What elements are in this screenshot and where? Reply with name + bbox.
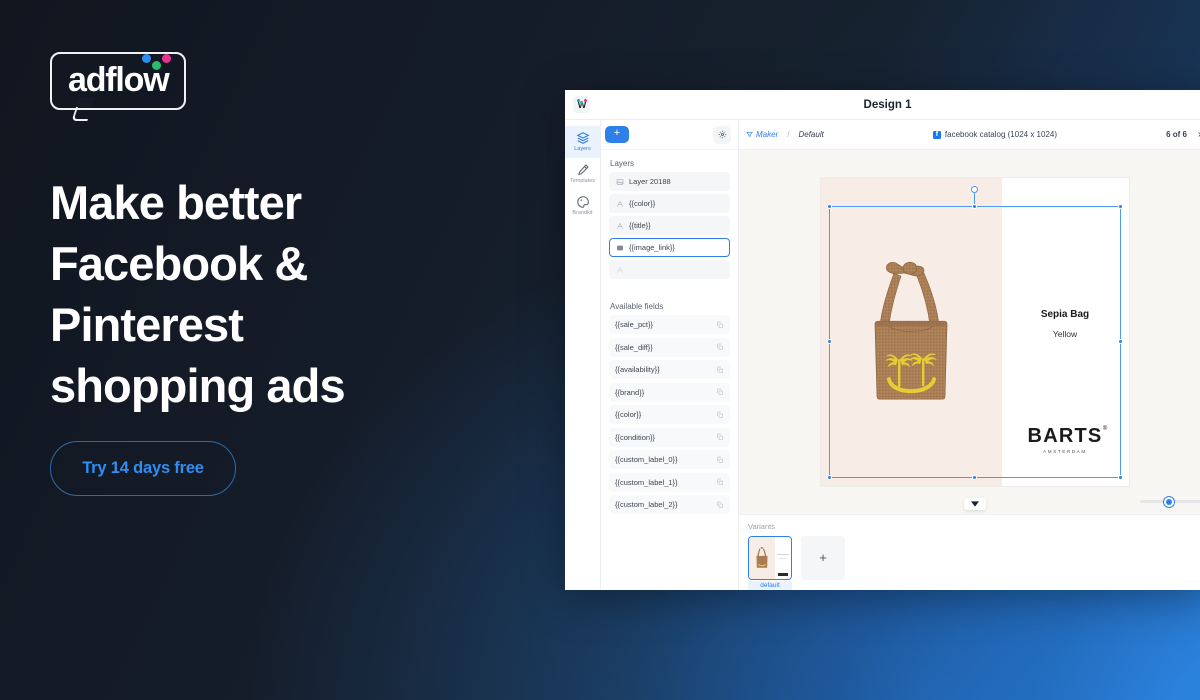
resize-handle-br[interactable]	[1118, 475, 1123, 480]
logo-pin-pink-icon	[162, 54, 171, 63]
text-icon	[616, 200, 624, 208]
field-item[interactable]: {{condition}}	[609, 428, 730, 447]
chevron-down-icon	[971, 501, 979, 507]
image-icon	[616, 244, 624, 252]
copy-icon[interactable]	[716, 321, 724, 329]
copy-icon[interactable]	[716, 388, 724, 396]
rotate-handle[interactable]	[971, 186, 978, 193]
layers-section-title: Layers	[609, 150, 730, 172]
list-item[interactable]: {{title}}	[609, 216, 730, 235]
design-title: Design 1	[565, 99, 1200, 111]
variants-panel: Variants	[739, 514, 1200, 591]
copy-icon[interactable]	[716, 411, 724, 419]
list-item[interactable]: {{color}}	[609, 194, 730, 213]
resize-handle-tr[interactable]	[1118, 204, 1123, 209]
collapse-panel-button[interactable]	[964, 498, 986, 510]
sidebar-item-layers-label: Layers	[574, 146, 591, 152]
text-icon	[616, 266, 624, 274]
list-item-label: {{color}}	[629, 199, 655, 208]
variant-thumb-title-bar	[777, 554, 789, 556]
funnel-icon	[746, 131, 753, 138]
field-item-label: {{sale_pct}}	[615, 320, 653, 329]
resize-handle-tc[interactable]	[972, 204, 977, 209]
page-title: Make better Facebook & Pinterest shoppin…	[50, 172, 450, 416]
logo-wordmark: adflo w	[68, 63, 168, 97]
resize-handle-bc[interactable]	[972, 475, 977, 480]
layers-panel-body: Layers Layer 20188 {{color}} {{title}} {…	[601, 150, 738, 590]
field-item-label: {{condition}}	[615, 433, 655, 442]
selection-box[interactable]	[829, 206, 1121, 478]
resize-handle-ml[interactable]	[827, 339, 832, 344]
artboard[interactable]: Sepia Bag Yellow BARTS ® AMSTERDAM	[821, 178, 1129, 486]
layers-panel: + Layers Layer 20188 {{color}}	[601, 120, 739, 590]
field-item[interactable]: {{custom_label_0}}	[609, 450, 730, 469]
copy-icon[interactable]	[716, 343, 724, 351]
try-free-button[interactable]: Try 14 days free	[50, 441, 236, 496]
list-item[interactable]	[609, 260, 730, 279]
copy-icon[interactable]	[716, 478, 724, 486]
copy-icon[interactable]	[716, 433, 724, 441]
canvas-stage[interactable]: Sepia Bag Yellow BARTS ® AMSTERDAM	[739, 150, 1200, 514]
text-icon	[616, 222, 624, 230]
add-layer-button[interactable]: +	[605, 126, 629, 143]
field-item-label: {{custom_label_0}}	[615, 455, 678, 464]
canvas-toolbar: Maker / Default f facebook catalog (1024…	[739, 120, 1200, 150]
field-item[interactable]: {{sale_diff}}	[609, 338, 730, 357]
catalog-label: facebook catalog (1024 x 1024)	[945, 130, 1057, 139]
available-fields-title: Available fields	[609, 282, 730, 315]
variant-thumbnail[interactable]	[748, 536, 792, 580]
variant-thumb-image	[749, 537, 775, 579]
variant-bag-icon	[753, 545, 771, 571]
field-item-label: {{custom_label_1}}	[615, 478, 678, 487]
facebook-icon: f	[933, 131, 941, 139]
variant-thumb-text	[775, 537, 791, 579]
palette-icon	[576, 195, 590, 209]
field-item[interactable]: {{color}}	[609, 405, 730, 424]
field-item-label: {{custom_label_2}}	[615, 500, 678, 509]
copy-icon[interactable]	[716, 456, 724, 464]
field-item-label: {{color}}	[615, 410, 641, 419]
brush-icon	[576, 163, 590, 177]
logo-speech-bubble: adflo w	[50, 52, 186, 110]
field-item[interactable]: {{sale_pct}}	[609, 315, 730, 334]
sidebar-item-templates-label: Templates	[570, 178, 595, 184]
zoom-slider-track	[1140, 500, 1200, 503]
layers-panel-toolbar: +	[601, 120, 738, 150]
field-item-label: {{sale_diff}}	[615, 343, 653, 352]
maker-label: Maker	[756, 130, 778, 139]
list-item[interactable]: Layer 20188	[609, 172, 730, 191]
variants-label: Variants	[748, 522, 1200, 531]
resize-handle-tl[interactable]	[827, 204, 832, 209]
gear-icon	[718, 130, 727, 139]
variant-name: default	[748, 581, 792, 590]
sidebar-item-layers[interactable]: Layers	[565, 126, 600, 158]
adflow-logo: adflo w	[50, 52, 186, 110]
maker-filter-button[interactable]: Maker	[746, 130, 778, 139]
copy-icon[interactable]	[716, 366, 724, 374]
catalog-size-selector[interactable]: f facebook catalog (1024 x 1024)	[933, 130, 1057, 139]
resize-handle-mr[interactable]	[1118, 339, 1123, 344]
field-item-label: {{brand}}	[615, 388, 644, 397]
sidebar-rail: Layers Templates Brandkit	[565, 120, 601, 590]
variant-default[interactable]: default	[748, 536, 792, 591]
sidebar-item-brandkit[interactable]: Brandkit	[565, 190, 600, 222]
add-variant-button[interactable]: +	[801, 536, 845, 580]
default-preset-label[interactable]: Default	[798, 130, 823, 139]
field-item[interactable]: {{availability}}	[609, 360, 730, 379]
canvas-side: Maker / Default f facebook catalog (1024…	[739, 120, 1200, 590]
zoom-slider-knob[interactable]	[1164, 497, 1174, 507]
field-item-label: {{availability}}	[615, 365, 660, 374]
layers-icon	[576, 131, 590, 145]
field-item[interactable]: {{brand}}	[609, 383, 730, 402]
field-item[interactable]: {{custom_label_1}}	[609, 473, 730, 492]
variant-thumb-brand-bar	[778, 573, 788, 575]
item-count-label: 6 of 6	[1166, 130, 1187, 139]
app-main-row: Layers Templates Brandkit +	[565, 120, 1200, 590]
list-item-selected[interactable]: {{image_link}}	[609, 238, 730, 257]
field-item[interactable]: {{custom_label_2}}	[609, 495, 730, 514]
chevron-right-icon[interactable]	[1196, 131, 1200, 138]
sidebar-item-templates[interactable]: Templates	[565, 158, 600, 190]
logo-w-with-pins: w	[143, 63, 168, 97]
list-item-label: {{title}}	[629, 221, 651, 230]
list-item-label: Layer 20188	[629, 177, 671, 186]
list-item-label: {{image_link}}	[629, 243, 675, 252]
toolbar-separator: /	[787, 130, 789, 139]
resize-handle-bl[interactable]	[827, 475, 832, 480]
logo-text-adflo: adflo	[68, 63, 143, 97]
layers-settings-button[interactable]	[713, 126, 731, 144]
variants-row: default +	[748, 536, 1200, 591]
variant-thumb-sub-bar	[779, 558, 787, 559]
app-titlebar: W Design 1	[565, 90, 1200, 120]
sidebar-item-brandkit-label: Brandkit	[572, 210, 592, 216]
zoom-slider[interactable]	[1140, 496, 1200, 508]
copy-icon[interactable]	[716, 501, 724, 509]
app-window: W Design 1 Layers Templates	[565, 90, 1200, 590]
image-icon	[616, 178, 624, 186]
